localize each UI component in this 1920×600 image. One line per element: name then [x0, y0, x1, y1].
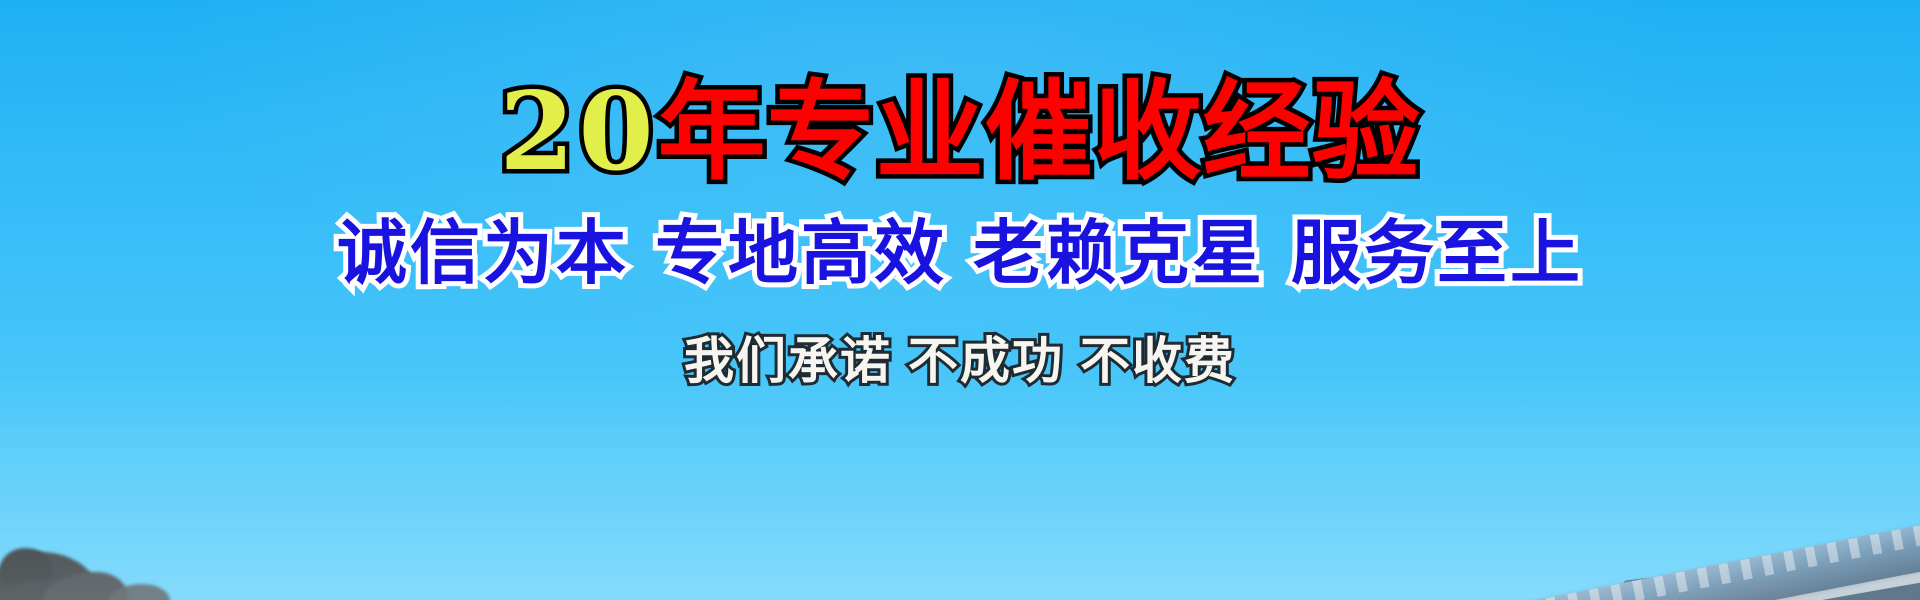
subline-phrase-2: 专地高效 — [655, 212, 947, 294]
subline: 诚信为本专地高效老赖克星服务至上 — [0, 218, 1920, 288]
subline-phrase-1: 诚信为本 — [337, 212, 629, 294]
banner-content: 20年专业催收经验 诚信为本专地高效老赖克星服务至上 我们承诺不成功不收费 — [0, 0, 1920, 600]
tagline-phrase-1: 我们承诺 — [684, 332, 892, 390]
tagline: 我们承诺不成功不收费 — [0, 336, 1920, 386]
subline-phrase-3: 老赖克星 — [973, 212, 1265, 294]
tagline-phrase-3: 不收费 — [1080, 332, 1236, 390]
headline-number: 20 — [499, 69, 657, 195]
headline: 20年专业催收经验 — [0, 78, 1920, 187]
subline-phrase-4: 服务至上 — [1291, 212, 1583, 294]
headline-text: 年专业催收经验 — [658, 70, 1421, 195]
promo-banner: 20年专业催收经验 诚信为本专地高效老赖克星服务至上 我们承诺不成功不收费 — [0, 0, 1920, 600]
tagline-phrase-2: 不成功 — [908, 332, 1064, 390]
